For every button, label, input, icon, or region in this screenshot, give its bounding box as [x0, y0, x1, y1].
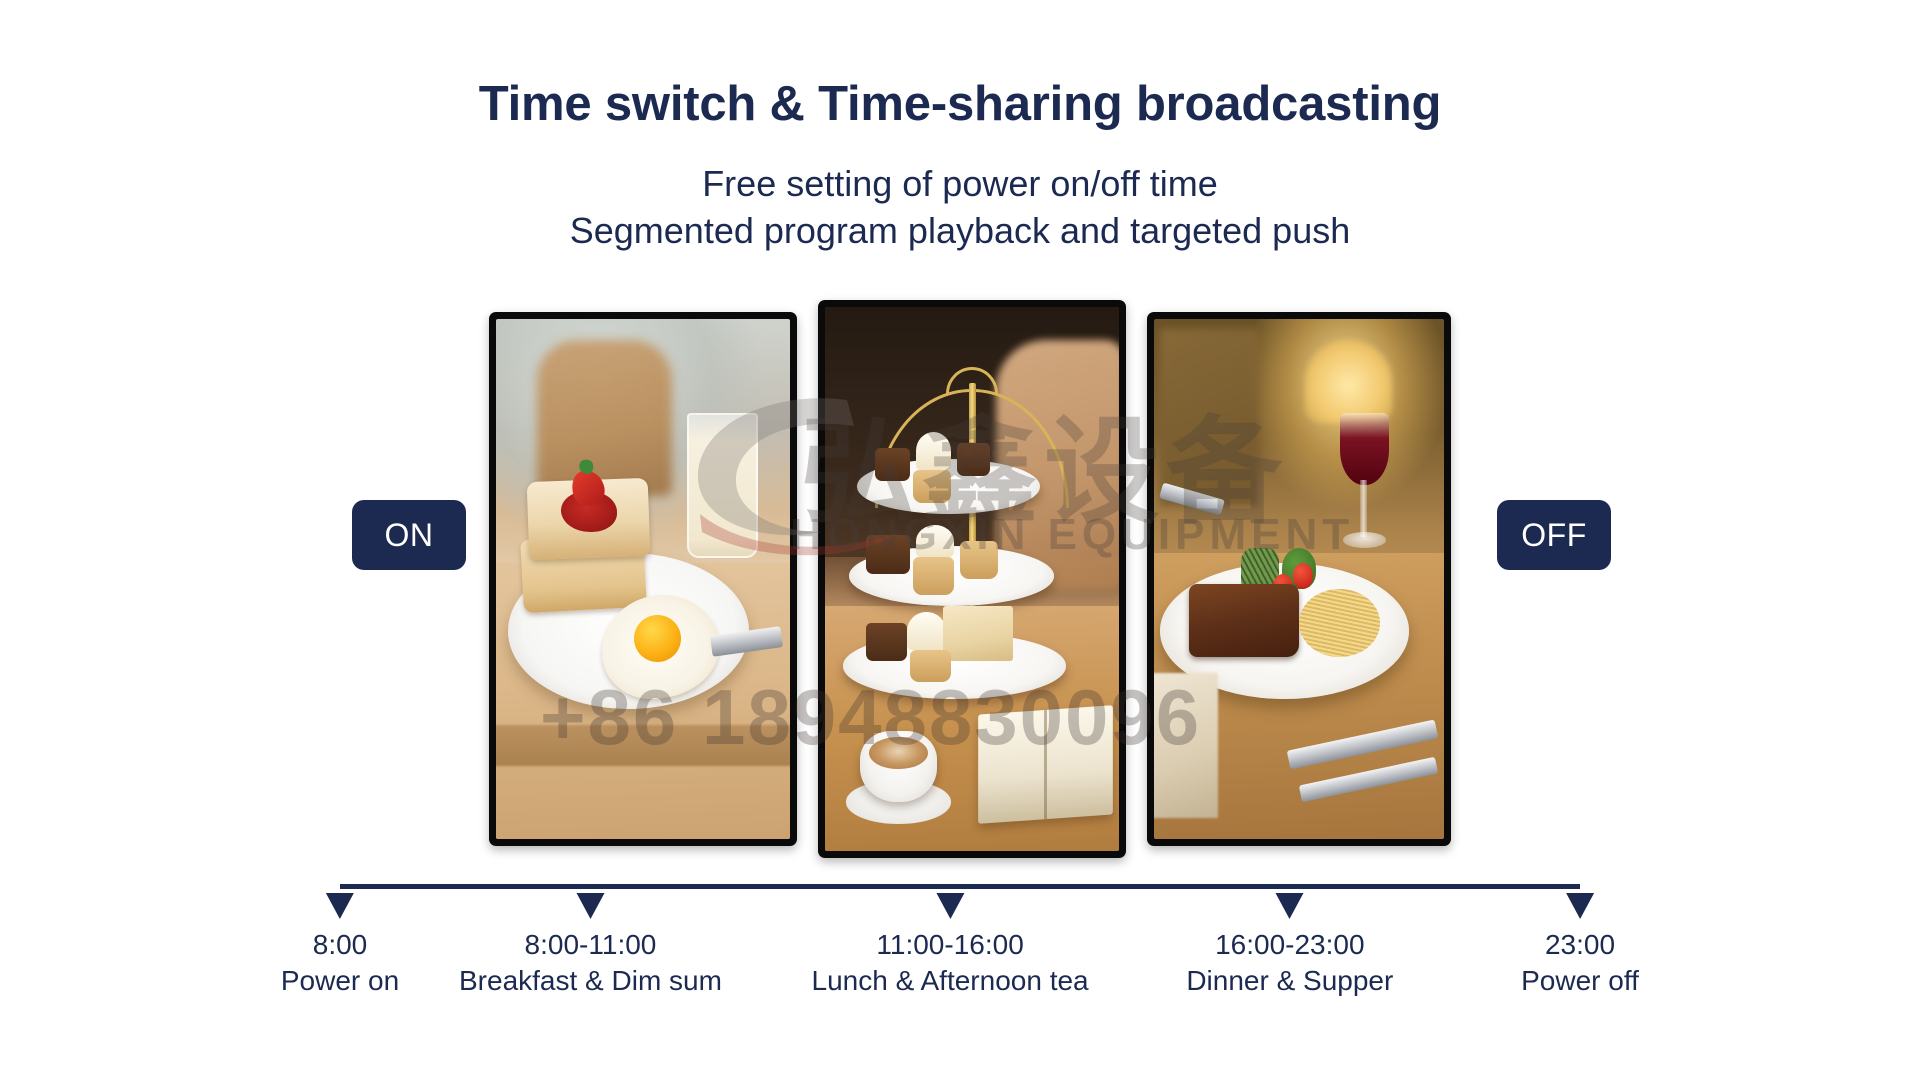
table-edge [496, 725, 790, 767]
subtitle-line-2: Segmented program playback and targeted … [0, 207, 1920, 255]
display-panel-group [489, 300, 1451, 860]
status-badge-off[interactable]: OFF [1497, 500, 1611, 570]
breakfast-scene-image [496, 319, 790, 839]
pastry-fruit-tart-top [913, 470, 951, 503]
heading-block: Time switch & Time-sharing broadcasting … [0, 78, 1920, 255]
status-badge-on[interactable]: ON [352, 500, 466, 570]
pastry-chocolate-top [875, 448, 910, 481]
timeline-marker-icon [936, 893, 964, 919]
timeline-time: 8:00 [281, 927, 399, 963]
pastry-cream-top [916, 432, 951, 470]
pastry-fruit-middle [960, 541, 998, 579]
slide-canvas: Time switch & Time-sharing broadcasting … [0, 0, 1920, 1080]
timeline-label: Lunch & Afternoon tea [812, 963, 1089, 999]
lamp-glow [1305, 340, 1392, 423]
display-panel-breakfast[interactable] [489, 312, 797, 846]
subtitle-line-1: Free setting of power on/off time [0, 160, 1920, 208]
steak-shape [1189, 584, 1299, 657]
timeline-label: Power on [281, 963, 399, 999]
timeline-item-lunch[interactable]: 11:00-16:00 Lunch & Afternoon tea [812, 889, 1089, 1000]
display-panel-afternoon-tea[interactable] [818, 300, 1126, 858]
latte-art-surface [869, 737, 928, 770]
timeline-time: 16:00-23:00 [1186, 927, 1393, 963]
timeline-time: 8:00-11:00 [459, 927, 722, 963]
timeline-item-power-on[interactable]: 8:00 Power on [281, 889, 399, 1000]
timeline-label: Breakfast & Dim sum [459, 963, 722, 999]
cupcake-bottom [866, 623, 907, 661]
timeline-item-power-off[interactable]: 23:00 Power off [1521, 889, 1639, 1000]
wine-glass-foot [1343, 532, 1387, 548]
sandwich-shape [943, 606, 1014, 660]
pastry-truffle-top [957, 443, 989, 476]
afternoon-tea-scene-image [825, 307, 1119, 851]
timeline-marker-icon [576, 893, 604, 919]
timeline-item-breakfast[interactable]: 8:00-11:00 Breakfast & Dim sum [459, 889, 722, 1000]
pastry-tart-bottom [910, 650, 951, 683]
chair-shape [537, 340, 672, 496]
pasta-nest [1299, 589, 1380, 657]
open-book-shape [978, 705, 1113, 823]
timeline: 8:00 Power on 8:00-11:00 Breakfast & Dim… [340, 884, 1580, 1044]
pastry-berry-tart [913, 557, 954, 595]
timeline-time: 11:00-16:00 [812, 927, 1089, 963]
timeline-time: 23:00 [1521, 927, 1639, 963]
timeline-marker-icon [326, 893, 354, 919]
milk-glass-shape [687, 413, 758, 559]
timeline-item-dinner[interactable]: 16:00-23:00 Dinner & Supper [1186, 889, 1393, 1000]
timeline-marker-icon [1276, 893, 1304, 919]
page-subtitle: Free setting of power on/off time Segmen… [0, 160, 1920, 255]
timeline-marker-icon [1566, 893, 1594, 919]
dinner-scene-image [1154, 319, 1444, 839]
pastry-cream-middle [916, 525, 954, 558]
page-title: Time switch & Time-sharing broadcasting [0, 78, 1920, 132]
wine-glass-stem [1360, 480, 1367, 537]
window-background [1160, 329, 1259, 506]
pastry-cream-bottom [907, 612, 945, 650]
display-panel-dinner[interactable] [1147, 312, 1451, 846]
timeline-label: Dinner & Supper [1186, 963, 1393, 999]
wine-glass-bowl [1340, 413, 1389, 486]
timeline-label: Power off [1521, 963, 1639, 999]
cake-slice-middle [866, 535, 910, 573]
napkin-shape [1154, 673, 1218, 819]
